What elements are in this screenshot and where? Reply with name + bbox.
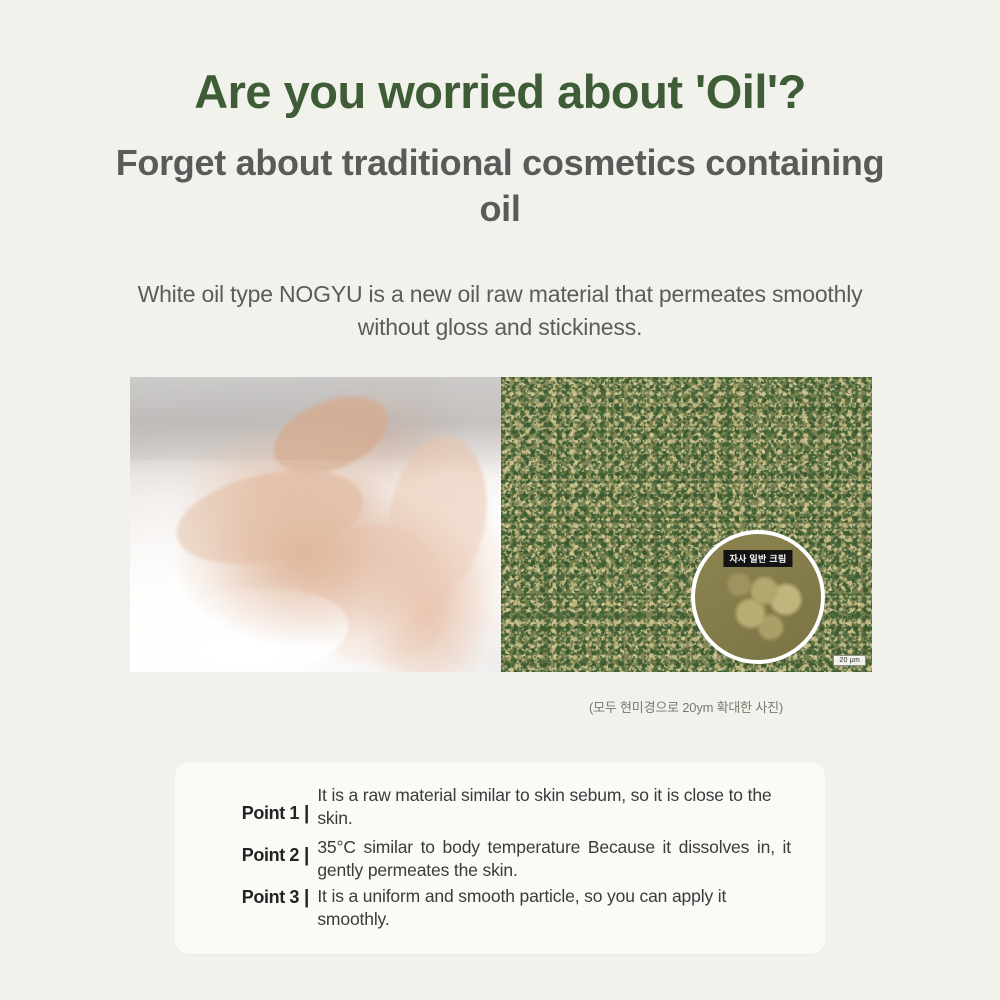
point-row: Point 1 | It is a raw material similar t… [213, 784, 791, 830]
points-list: Point 1 | It is a raw material similar t… [213, 784, 791, 938]
point-text: It is a raw material similar to skin seb… [317, 784, 791, 830]
point-row: Point 3 | It is a uniform and smooth par… [213, 885, 791, 931]
microscope-inset-circle: 자사 일반 크림 [691, 530, 825, 664]
photo-shape [263, 381, 400, 489]
page-subheadline: Forget about traditional cosmetics conta… [100, 140, 900, 232]
points-card: Point 1 | It is a raw material similar t… [175, 762, 825, 954]
point-row: Point 2 | 35°C similar to body temperatu… [213, 836, 791, 882]
point-separator-icon: | [299, 885, 317, 909]
image-band-caption: (모두 현미경으로 20ym 확대한 사진) [500, 697, 872, 716]
promo-page: Are you worried about 'Oil'? Forget abou… [0, 0, 1000, 1000]
point-separator-icon: | [299, 784, 317, 825]
photo-shape [144, 579, 352, 672]
photo-shape [379, 430, 496, 602]
microscope-texture-photo: 자사 일반 크림 20 μm [501, 377, 872, 672]
image-comparison-band: 자사 일반 크림 20 μm [130, 377, 872, 672]
microscope-inset-label: 자사 일반 크림 [723, 550, 792, 567]
point-separator-icon: | [299, 836, 317, 867]
point-label: Point 3 [213, 885, 299, 908]
point-label: Point 2 [213, 836, 299, 866]
microscope-scale-bar: 20 μm [833, 655, 866, 666]
point-text: It is a uniform and smooth particle, so … [317, 885, 791, 931]
point-label: Point 1 [213, 784, 299, 824]
lead-paragraph: White oil type NOGYU is a new oil raw ma… [110, 278, 890, 343]
point-text: 35°C similar to body temperature Because… [317, 836, 791, 882]
hands-applying-cream-photo [130, 377, 501, 672]
photo-shape [283, 505, 469, 672]
page-headline: Are you worried about 'Oil'? [0, 66, 1000, 119]
photo-shape [168, 456, 372, 580]
